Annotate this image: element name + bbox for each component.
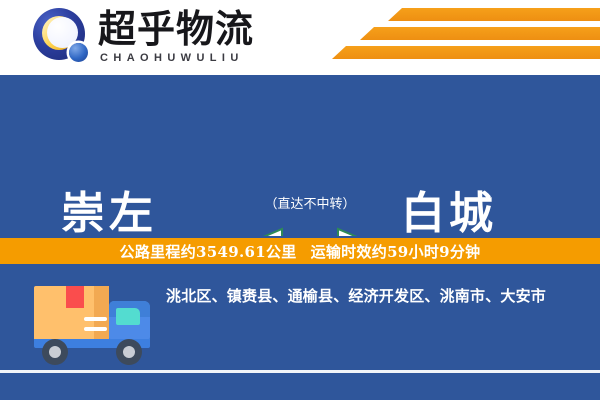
coverage-districts-text: 洮北区、镇赉县、通榆县、经济开发区、洮南市、大安市 (166, 284, 580, 309)
route-banner: 崇左 （直达不中转） 【往返运输】 白城 (0, 75, 600, 236)
stripe-2 (360, 27, 600, 40)
direct-shipping-badge: （直达不中转） (240, 197, 380, 213)
stripe-3 (332, 46, 600, 59)
truck-front-wheel (116, 339, 142, 365)
poster-header: 超乎物流 CHAOHUWULIU (0, 0, 600, 75)
truck-window (116, 308, 140, 325)
truck-front-hub (123, 346, 135, 358)
stripe-1 (388, 8, 600, 21)
brand-name-cn: 超乎物流 (98, 9, 254, 49)
logo-accent-dot (69, 43, 88, 62)
orange-speed-stripes-icon (315, 8, 600, 66)
brand-name-en: CHAOHUWULIU (100, 52, 254, 65)
truck-cargo-stripe-1 (84, 317, 107, 321)
distance-duration-bar: 公路里程约3549.61公里运输时效约59小时9分钟 (0, 236, 600, 266)
duration-label: 运输时效约59小时9分钟 (311, 243, 481, 261)
coverage-section: 洮北区、镇赉县、通榆县、经济开发区、洮南市、大安市 (0, 266, 600, 400)
brand-wordmark: 超乎物流 CHAOHUWULIU (98, 9, 254, 65)
moon-circle-logo-icon (33, 8, 91, 66)
delivery-truck-icon (28, 279, 154, 363)
infobar-content: 公路里程约3549.61公里运输时效约59小时9分钟 (120, 241, 481, 262)
logistics-route-poster: 超乎物流 CHAOHUWULIU 崇左 （直达不中转） 【往返运输】 白城 公路… (0, 0, 600, 400)
truck-rear-hub (49, 346, 61, 358)
footer-divider (0, 370, 600, 373)
origin-city: 崇左 (61, 191, 157, 237)
truck-rear-wheel (42, 339, 68, 365)
truck-cargo-shade (94, 286, 109, 339)
truck-cargo-stripe-2 (84, 327, 107, 331)
truck-cargo-tape (66, 286, 84, 308)
destination-city: 白城 (401, 191, 497, 237)
distance-label: 公路里程约3549.61公里 (120, 243, 297, 261)
